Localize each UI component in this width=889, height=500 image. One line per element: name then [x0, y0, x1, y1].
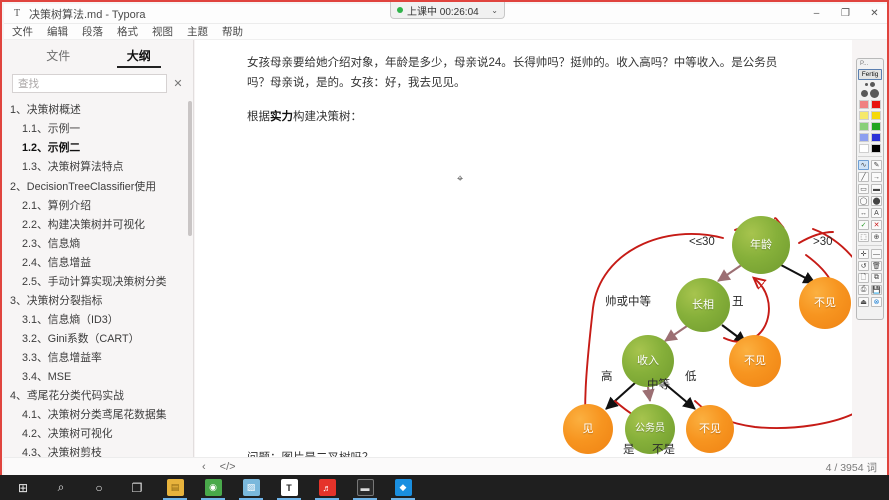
- outline-item-3-2[interactable]: 3.2、Gini系数（CART）: [10, 329, 187, 348]
- taskbar-photos[interactable]: ▨: [232, 475, 270, 500]
- tool-row-output[interactable]: ⎙ 💾: [858, 285, 882, 295]
- tool-row-ellipse[interactable]: ◯ ⬤: [858, 196, 882, 206]
- done-button[interactable]: Fertig: [858, 69, 882, 80]
- tree-node-nomeet-2[interactable]: 不见: [729, 335, 781, 387]
- tree-node-nomeet-1[interactable]: 不见: [799, 277, 851, 329]
- outline-item-2-4[interactable]: 2.4、信息增益: [10, 253, 187, 272]
- color-row-yellow[interactable]: [858, 111, 882, 120]
- chevron-down-icon[interactable]: ⌄: [491, 6, 498, 15]
- arrow-icon[interactable]: →: [871, 172, 882, 182]
- edge-label-handsome: 帅或中等: [605, 293, 651, 309]
- color-row-red[interactable]: [858, 100, 882, 109]
- taskbar-typora[interactable]: T: [270, 475, 308, 500]
- color-swatch-black[interactable]: [871, 144, 881, 153]
- text-icon[interactable]: A: [871, 208, 882, 218]
- print-icon[interactable]: ⎙: [858, 285, 869, 295]
- decision-tree-figure[interactable]: 年龄 长相 不见 收入 不见 见 公务员 不见 见 不见 <≤30 >30 帅或…: [195, 133, 852, 443]
- windows-taskbar: ⊞ ⌕ ○ ❐ ▤ ◉ ▨ T ♬ ▬ ◆: [0, 475, 889, 500]
- toolbar-divider-2: [858, 245, 882, 246]
- sidebar-panel: 文件 大纲 ✕ 1、决策树概述 1.1、示例一 1.2、示例二 1.3、决策树算…: [4, 40, 194, 457]
- music-icon: ♬: [319, 479, 336, 496]
- tree-node-nomeet-3[interactable]: 不见: [686, 405, 734, 453]
- status-bar: ‹ </> 4 / 3954 词: [4, 457, 889, 476]
- outline-item-1-3[interactable]: 1.3、决策树算法特点: [10, 158, 187, 177]
- maximize-button[interactable]: ❐: [831, 4, 860, 24]
- outline-item-2-1[interactable]: 2.1、算例介绍: [10, 196, 187, 215]
- word-count-label[interactable]: 4 / 3954 词: [826, 460, 889, 475]
- color-swatch-light-green[interactable]: [859, 122, 869, 131]
- color-swatch-light-red[interactable]: [859, 100, 869, 109]
- line-icon[interactable]: ╱: [858, 172, 869, 182]
- color-swatch-yellow[interactable]: [871, 111, 881, 120]
- tool-row-frame[interactable]: ⬚ ⊕: [858, 232, 882, 242]
- taskbar-chrome[interactable]: ◉: [194, 475, 232, 500]
- typora-app-icon: T: [10, 7, 24, 21]
- outline-item-1[interactable]: 1、决策树概述: [10, 101, 187, 120]
- filled-rectangle-icon[interactable]: ▬: [871, 184, 882, 194]
- chrome-icon: ◉: [205, 479, 222, 496]
- color-row-mono[interactable]: [858, 144, 882, 153]
- close-icon[interactable]: ✕: [171, 77, 185, 90]
- paragraph-story: 女孩母亲要给她介绍对象，年龄是多少，母亲说24。长得帅吗？挺帅的。收入高吗？中等…: [247, 40, 800, 94]
- start-button[interactable]: ⊞: [4, 475, 42, 500]
- rectangle-icon[interactable]: ▭: [858, 184, 869, 194]
- outline-item-2[interactable]: 2、DecisionTreeClassifier使用: [10, 177, 187, 196]
- edge-label-no: 不是: [652, 441, 675, 457]
- task-view-icon: ❐: [132, 481, 143, 495]
- stroke-size-s-icon[interactable]: [870, 82, 875, 87]
- close-icon[interactable]: ⊗: [871, 297, 882, 307]
- stroke-size-m-icon[interactable]: [861, 90, 868, 97]
- folder-icon: ▤: [167, 479, 184, 496]
- circle-icon: ○: [95, 481, 102, 495]
- menu-bar: 文件 编辑 段落 格式 视图 主题 帮助: [4, 24, 889, 40]
- minimize-button[interactable]: –: [802, 4, 831, 24]
- tab-files[interactable]: 文件: [46, 47, 70, 68]
- outline-list: 1、决策树概述 1.1、示例一 1.2、示例二 1.3、决策树算法特点 2、De…: [4, 101, 193, 457]
- taskbar-blue-app[interactable]: ◆: [384, 475, 422, 500]
- double-arrow-icon[interactable]: ↔: [858, 208, 869, 218]
- terminal-icon: ▬: [357, 479, 374, 496]
- source-code-icon[interactable]: </>: [220, 461, 236, 473]
- sidebar-tabs: 文件 大纲: [4, 40, 193, 68]
- color-swatch-light-blue[interactable]: [859, 133, 869, 142]
- outline-item-2-2[interactable]: 2.2、构建决策树并可视化: [10, 215, 187, 234]
- sidebar-search-row: ✕: [12, 74, 185, 93]
- edge-label-medium: 中等: [647, 376, 670, 392]
- taskbar-file-explorer[interactable]: ▤: [156, 475, 194, 500]
- stroke-size-row-small[interactable]: [858, 82, 882, 87]
- tab-outline[interactable]: 大纲: [127, 47, 151, 68]
- tool-row-rect[interactable]: ▭ ▬: [858, 184, 882, 194]
- trash-icon[interactable]: 🗑: [871, 261, 882, 271]
- stroke-size-row-large[interactable]: [858, 89, 882, 98]
- toolbar-divider: [858, 156, 882, 157]
- sidebar-scrollbar[interactable]: [188, 101, 192, 236]
- outline-item-1-2[interactable]: 1.2、示例二: [10, 139, 187, 158]
- search-input[interactable]: [12, 74, 167, 93]
- edge-label-yes: 是: [623, 441, 635, 457]
- close-button[interactable]: ✕: [860, 4, 889, 24]
- menu-help[interactable]: 帮助: [220, 23, 245, 40]
- magnify-icon[interactable]: ⊕: [871, 232, 882, 242]
- window-controls: – ❐ ✕: [802, 4, 889, 24]
- plus-icon[interactable]: ✛: [858, 249, 869, 259]
- typora-icon: T: [281, 479, 298, 496]
- recording-dot-icon: [397, 7, 403, 13]
- outline-item-1-1[interactable]: 1.1、示例一: [10, 120, 187, 139]
- photos-icon: ▨: [243, 479, 260, 496]
- class-status-text: 上课中 00:26:04: [407, 3, 479, 18]
- cross-icon[interactable]: ✕: [871, 220, 882, 230]
- copy-icon[interactable]: ⧉: [871, 273, 882, 283]
- check-icon[interactable]: ✓: [858, 220, 869, 230]
- edge-label-high: 高: [601, 368, 613, 384]
- taskbar-terminal[interactable]: ▬: [346, 475, 384, 500]
- tool-row-text[interactable]: ↔ A: [858, 208, 882, 218]
- task-view-button[interactable]: ❐: [118, 475, 156, 500]
- color-swatch-red[interactable]: [871, 100, 881, 109]
- paragraph-build-tree-prefix: 根据: [247, 111, 270, 123]
- frame-icon[interactable]: ⬚: [858, 232, 869, 242]
- paragraph-build-tree: 根据实力构建决策树：: [247, 94, 800, 128]
- new-icon[interactable]: 🗋: [858, 273, 869, 283]
- stroke-size-xs-icon[interactable]: [865, 83, 868, 86]
- cortana-button[interactable]: ○: [80, 475, 118, 500]
- annotation-toolbar[interactable]: P... Fertig: [856, 58, 884, 320]
- paragraph-build-tree-emphasis: 实力: [270, 111, 293, 123]
- tree-node-age[interactable]: 年龄: [732, 216, 790, 274]
- tool-row-exit[interactable]: ⏏ ⊗: [858, 297, 882, 307]
- class-status-pill[interactable]: 上课中 00:26:04 ⌄: [390, 2, 505, 19]
- editor-content[interactable]: 女孩母亲要给她介绍对象，年龄是多少，母亲说24。长得帅吗？挺帅的。收入高吗？中等…: [195, 40, 852, 457]
- highlighter-icon[interactable]: ✎: [871, 160, 882, 170]
- undo-icon[interactable]: ↺: [858, 261, 869, 271]
- tool-row-pen[interactable]: ∿ ✎: [858, 160, 882, 170]
- color-row-green[interactable]: [858, 122, 882, 131]
- tool-row-line[interactable]: ╱ →: [858, 172, 882, 182]
- save-icon[interactable]: 💾: [871, 285, 882, 295]
- stroke-size-l-icon[interactable]: [870, 89, 879, 98]
- menu-file[interactable]: 文件: [10, 23, 35, 40]
- edge-label-age-gt30: >30: [813, 236, 833, 248]
- color-swatch-light-yellow[interactable]: [859, 111, 869, 120]
- exit-icon[interactable]: ⏏: [858, 297, 869, 307]
- tree-node-meet-1[interactable]: 见: [563, 404, 613, 454]
- decision-tree-edges: [195, 133, 852, 443]
- tool-row-zoom[interactable]: ✛ —: [858, 249, 882, 259]
- edge-label-age-le30: <≤30: [689, 236, 715, 248]
- outline-item-4[interactable]: 4、鸢尾花分类代码实战: [10, 386, 187, 405]
- menu-format[interactable]: 格式: [115, 23, 140, 40]
- pen-icon[interactable]: ∿: [858, 160, 869, 170]
- color-row-blue[interactable]: [858, 133, 882, 142]
- outline-item-4-2[interactable]: 4.2、决策树可视化: [10, 425, 187, 444]
- color-swatch-white[interactable]: [859, 144, 869, 153]
- search-icon: ⌕: [58, 480, 65, 495]
- ellipse-icon[interactable]: ◯: [858, 196, 869, 206]
- menu-paragraph[interactable]: 段落: [80, 23, 105, 40]
- search-button[interactable]: ⌕: [42, 475, 80, 500]
- annotation-toolbar-title: P...: [859, 61, 881, 67]
- sidebar-toggle-icon[interactable]: ‹: [202, 461, 206, 473]
- menu-theme[interactable]: 主题: [185, 23, 210, 40]
- mouse-cursor-icon: ⌖: [457, 173, 463, 186]
- edge-label-low: 低: [685, 368, 697, 384]
- windows-logo-icon: ⊞: [18, 481, 28, 495]
- tool-row-file[interactable]: 🗋 ⧉: [858, 273, 882, 283]
- tool-row-mark[interactable]: ✓ ✕: [858, 220, 882, 230]
- window-title: 决策树算法.md - Typora: [29, 6, 146, 22]
- paragraph-build-tree-suffix: 构建决策树：: [293, 111, 362, 123]
- outline-item-3[interactable]: 3、决策树分裂指标: [10, 291, 187, 310]
- menu-edit[interactable]: 编辑: [45, 23, 70, 40]
- minus-icon[interactable]: —: [871, 249, 882, 259]
- outline-item-2-5[interactable]: 2.5、手动计算实现决策树分类: [10, 272, 187, 291]
- outline-item-4-1[interactable]: 4.1、决策树分类鸢尾花数据集: [10, 406, 187, 425]
- status-bar-left: ‹ </>: [4, 461, 236, 473]
- taskbar-music[interactable]: ♬: [308, 475, 346, 500]
- menu-view[interactable]: 视图: [150, 23, 175, 40]
- typora-window: T 决策树算法.md - Typora – ❐ ✕ 上课中 00:26:04 ⌄…: [0, 0, 889, 500]
- tool-row-edit[interactable]: ↺ 🗑: [858, 261, 882, 271]
- outline-item-3-3[interactable]: 3.3、信息增益率: [10, 348, 187, 367]
- outline-item-4-3[interactable]: 4.3、决策树剪枝: [10, 444, 187, 457]
- outline-item-3-1[interactable]: 3.1、信息熵（ID3）: [10, 310, 187, 329]
- outline-item-3-4[interactable]: 3.4、MSE: [10, 367, 187, 386]
- color-swatch-green[interactable]: [871, 122, 881, 131]
- diamond-icon: ◆: [395, 479, 412, 496]
- tree-node-looks[interactable]: 长相: [676, 278, 730, 332]
- outline-item-2-3[interactable]: 2.3、信息熵: [10, 234, 187, 253]
- color-swatch-blue[interactable]: [871, 133, 881, 142]
- edge-label-ugly: 丑: [732, 293, 744, 309]
- filled-ellipse-icon[interactable]: ⬤: [871, 196, 882, 206]
